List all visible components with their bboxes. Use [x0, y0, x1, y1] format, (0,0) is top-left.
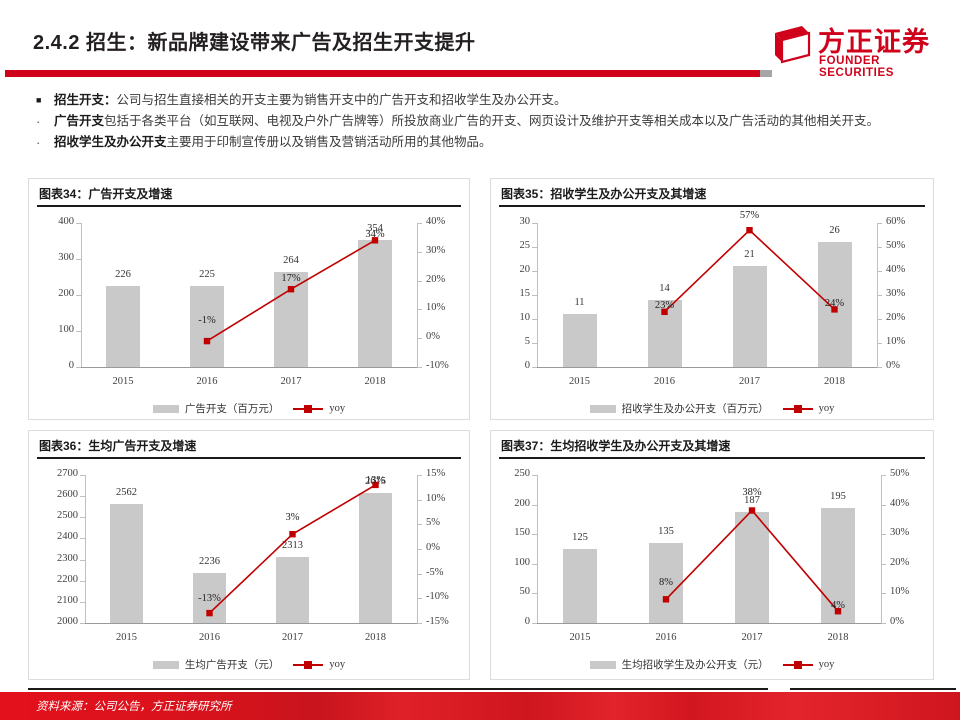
- legend-label-bar: 广告开支（百万元）: [185, 404, 280, 415]
- bullet-text: 包括于各类平台（如互联网、电视及户外广告牌等）所投放商业广告的开支、网页设计及维…: [104, 114, 879, 128]
- bullet-lead: 广告开支: [54, 114, 104, 128]
- legend-label-line: yoy: [329, 659, 345, 670]
- bullet-list: ■ 招生开支：公司与招生直接相关的开支主要为销售开支中的广告开支和招收学生及办公…: [36, 90, 936, 153]
- footer-rule-left: [28, 688, 768, 690]
- yoy-point-label: 24%: [795, 298, 875, 309]
- yoy-point-label: 3%: [253, 512, 333, 523]
- yoy-line-series: [491, 209, 933, 419]
- legend-bar-swatch: [590, 405, 616, 413]
- legend-label-bar: 生均招收学生及办公开支（元）: [622, 660, 769, 671]
- yoy-point-label: 34%: [335, 229, 415, 240]
- yoy-point-label: 4%: [798, 600, 878, 611]
- panel-rule: [499, 457, 925, 459]
- panel-rule: [499, 205, 925, 207]
- footer-source: 资料来源：公司公告，方正证券研究所: [36, 698, 232, 714]
- founder-securities-logo: 方正证券 FOUNDER SECURITIES: [772, 20, 952, 75]
- chart-canvas-34: 0100200300400-10%0%10%20%30%40%226225264…: [29, 209, 469, 419]
- yoy-point-label: 13%: [336, 475, 416, 486]
- bullet-text: 主要用于印制宣传册以及销售及营销活动所用的其他物品。: [167, 135, 492, 149]
- legend-line-swatch: [783, 660, 813, 670]
- yoy-point-label: 57%: [710, 210, 790, 221]
- legend-line-swatch: [293, 404, 323, 414]
- logo-text-cn: 方正证券: [818, 20, 930, 59]
- yoy-line-series: [29, 461, 469, 679]
- bullet-square-icon: ■: [36, 90, 50, 111]
- panel-title: 图表35：招收学生及办公开支及其增速: [501, 185, 706, 202]
- yoy-point-label: 8%: [626, 577, 706, 588]
- yoy-point-label: -13%: [170, 593, 250, 604]
- legend-label-line: yoy: [819, 659, 835, 670]
- chart-canvas-35: 0510152025300%10%20%30%40%50%60%11142126…: [491, 209, 933, 419]
- legend-line-swatch: [783, 404, 813, 414]
- bullet-lead: 招收学生及办公开支: [54, 135, 167, 149]
- yoy-point-label: 23%: [625, 300, 705, 311]
- panel-title: 图表37：生均招收学生及办公开支及其增速: [501, 437, 730, 454]
- logo-mark-icon: [772, 24, 812, 64]
- legend-line-swatch: [293, 660, 323, 670]
- bullet-dot-icon: ·: [36, 132, 50, 153]
- chart-legend: 招收学生及办公开支（百万元）yoy: [491, 401, 933, 416]
- legend-bar-swatch: [153, 661, 179, 669]
- chart-canvas-37: 0501001502002500%10%20%30%40%50%12513518…: [491, 461, 933, 679]
- slide-root: 2.4.2 招生：新品牌建设带来广告及招生开支提升 方正证券 FOUNDER S…: [0, 0, 960, 720]
- chart-canvas-36: 20002100220023002400250026002700-15%-10%…: [29, 461, 469, 679]
- legend-label-bar: 生均广告开支（元）: [185, 660, 280, 671]
- list-item: · 招收学生及办公开支主要用于印制宣传册以及销售及营销活动所用的其他物品。: [36, 132, 936, 153]
- panel-rule: [37, 205, 461, 207]
- bullet-lead: 招生开支：: [54, 93, 117, 107]
- panel-title: 图表36：生均广告开支及增速: [39, 437, 196, 454]
- legend-label-line: yoy: [329, 403, 345, 414]
- list-item: · 广告开支包括于各类平台（如互联网、电视及户外广告牌等）所投放商业广告的开支、…: [36, 111, 936, 132]
- bullet-text: 公司与招生直接相关的开支主要为销售开支中的广告开支和招收学生及办公开支。: [117, 93, 567, 107]
- legend-bar-swatch: [153, 405, 179, 413]
- legend-label-line: yoy: [819, 403, 835, 414]
- chart-panel-35: 图表35：招收学生及办公开支及其增速 0510152025300%10%20%3…: [490, 178, 934, 420]
- legend-bar-swatch: [590, 661, 616, 669]
- legend-label-bar: 招收学生及办公开支（百万元）: [622, 404, 769, 415]
- chart-legend: 广告开支（百万元）yoy: [29, 401, 469, 416]
- yoy-point-label: 38%: [712, 487, 792, 498]
- list-item: ■ 招生开支：公司与招生直接相关的开支主要为销售开支中的广告开支和招收学生及办公…: [36, 90, 936, 111]
- panel-title: 图表34：广告开支及增速: [39, 185, 172, 202]
- bullet-dot-icon: ·: [36, 111, 50, 132]
- chart-legend: 生均广告开支（元）yoy: [29, 657, 469, 672]
- yoy-line-series: [29, 209, 469, 419]
- panel-rule: [37, 457, 461, 459]
- header-rule: [5, 70, 760, 77]
- chart-panel-36: 图表36：生均广告开支及增速 2000210022002300240025002…: [28, 430, 470, 680]
- yoy-point-label: -1%: [167, 315, 247, 326]
- footer-rule-right: [790, 688, 956, 690]
- header-rule-cap: [760, 70, 772, 77]
- page-title: 2.4.2 招生：新品牌建设带来广告及招生开支提升: [33, 26, 476, 55]
- chart-panel-37: 图表37：生均招收学生及办公开支及其增速 0501001502002500%10…: [490, 430, 934, 680]
- logo-text-en: FOUNDER SECURITIES: [819, 55, 952, 79]
- chart-panel-34: 图表34：广告开支及增速 0100200300400-10%0%10%20%30…: [28, 178, 470, 420]
- yoy-point-label: 17%: [251, 273, 331, 284]
- chart-legend: 生均招收学生及办公开支（元）yoy: [491, 657, 933, 672]
